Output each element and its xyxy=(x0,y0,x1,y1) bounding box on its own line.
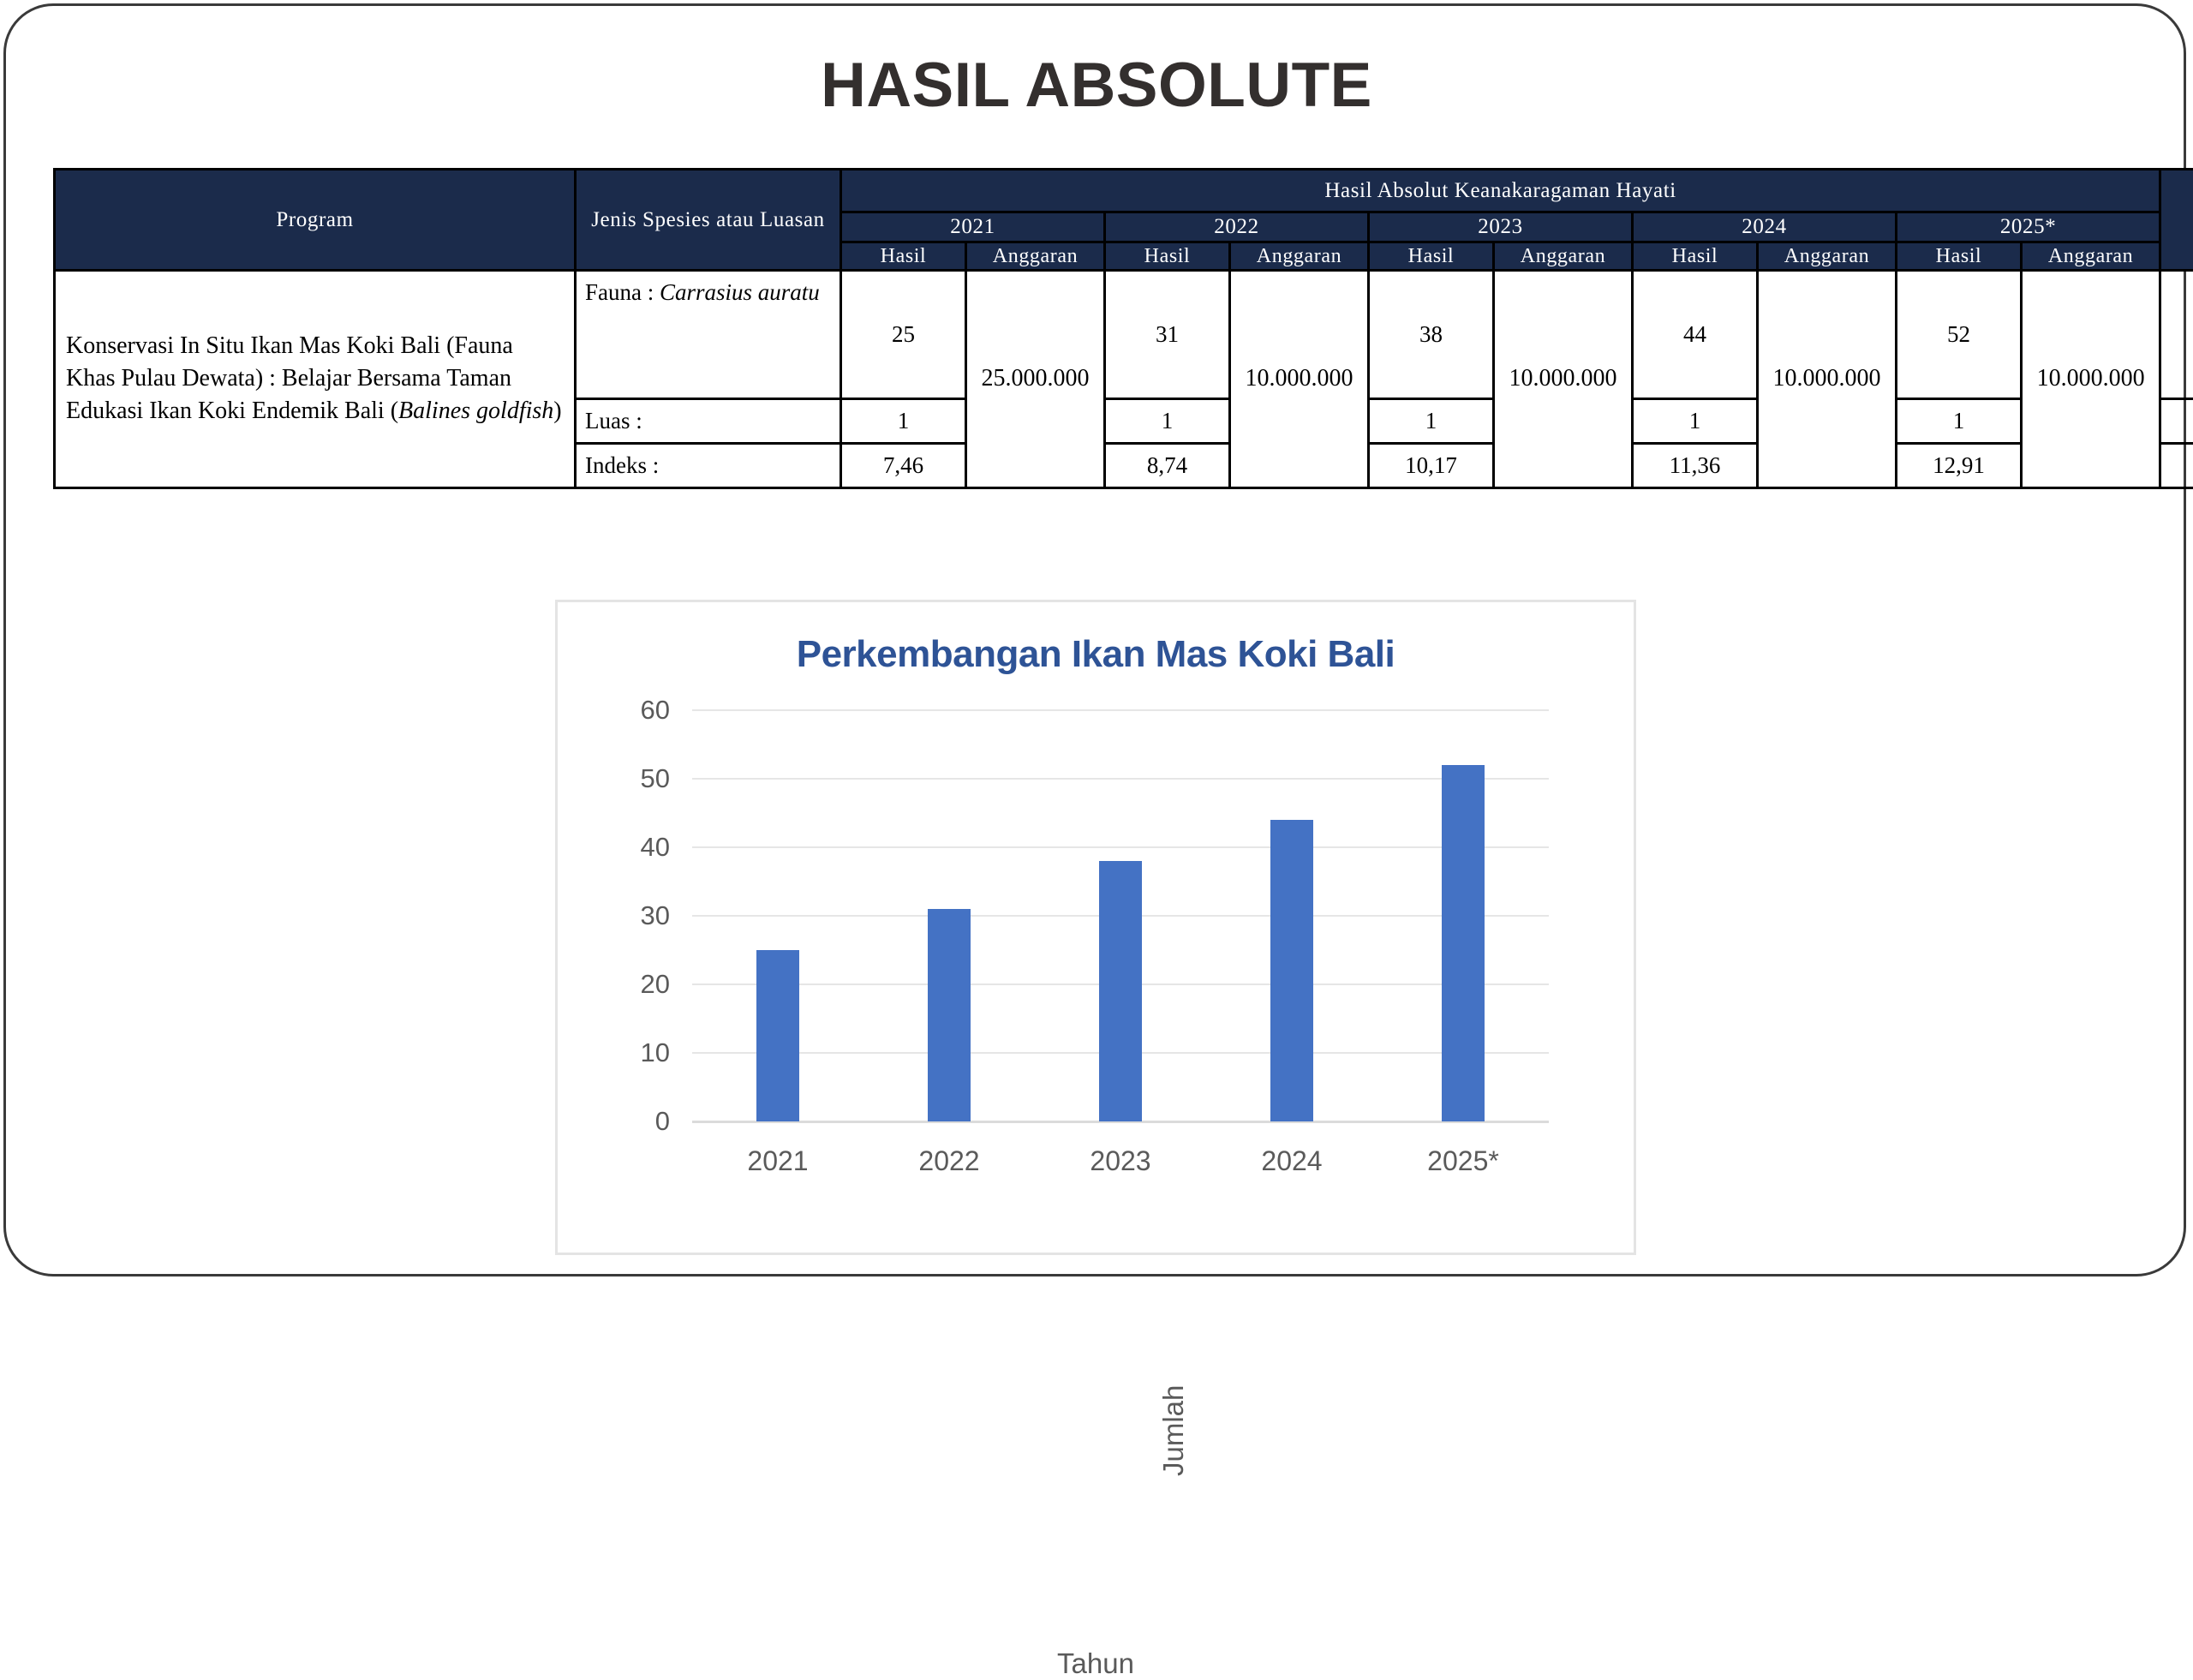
td-fauna-2025: 52 xyxy=(1897,270,2022,398)
x-tick-label-2025*: 2025* xyxy=(1427,1145,1499,1177)
td-anggaran-2024: 10.000.000 xyxy=(1758,270,1897,487)
x-tick-label-2021: 2021 xyxy=(747,1145,808,1177)
y-tick-label-10: 10 xyxy=(641,1037,670,1068)
biodiversity-results-table: Program Jenis Spesies atau Luasan Hasil … xyxy=(53,168,2136,489)
fauna-species-name: Carrasius auratu xyxy=(660,279,820,305)
gridline-50 xyxy=(692,778,1549,780)
bar-2021 xyxy=(756,950,799,1121)
td-indeks-2025: 12,91 xyxy=(1897,443,2022,487)
gridline-60 xyxy=(692,709,1549,711)
td-fauna-2023: 38 xyxy=(1369,270,1494,398)
th-hasil-2025: Hasil xyxy=(1897,242,2022,270)
th-grand-title: Hasil Absolut Keanakaragaman Hayati xyxy=(841,170,2160,212)
th-year-2022: 2022 xyxy=(1105,212,1369,242)
program-text-part2: ) xyxy=(553,398,561,424)
x-tick-label-2022: 2022 xyxy=(918,1145,979,1177)
td-fauna-2021: 25 xyxy=(841,270,966,398)
y-tick-label-0: 0 xyxy=(655,1106,670,1137)
bar-2022 xyxy=(928,909,971,1121)
y-tick-label-60: 60 xyxy=(641,695,670,726)
gridline-40 xyxy=(692,846,1549,848)
bar-2023 xyxy=(1099,861,1142,1121)
y-tick-label-30: 30 xyxy=(641,900,670,931)
td-luas-label: Luas : xyxy=(576,398,841,443)
bar-2024 xyxy=(1270,820,1313,1121)
th-anggaran-2022: Anggaran xyxy=(1230,242,1369,270)
fauna-label: Fauna : xyxy=(585,279,660,305)
th-anggaran-2023: Anggaran xyxy=(1494,242,1633,270)
chart-x-axis-title: Tahun xyxy=(558,1647,1634,1680)
td-indeks-label: Indeks : xyxy=(576,443,841,487)
chart-y-axis-title: Jumlah xyxy=(1157,1385,1190,1476)
td-luas-2022: 1 xyxy=(1105,398,1230,443)
td-satuan-fauna: Ekor xyxy=(2160,270,2193,398)
page-title: HASIL ABSOLUTE xyxy=(0,50,2193,121)
chart-panel: Perkembangan Ikan Mas Koki Bali 01020304… xyxy=(555,600,1636,1255)
th-anggaran-2025: Anggaran xyxy=(2022,242,2160,270)
td-program-description: Konservasi In Situ Ikan Mas Koki Bali (F… xyxy=(55,270,576,487)
x-tick-label-2024: 2024 xyxy=(1261,1145,1322,1177)
td-fauna-2022: 31 xyxy=(1105,270,1230,398)
th-anggaran-2021: Anggaran xyxy=(966,242,1105,270)
td-indeks-2022: 8,74 xyxy=(1105,443,1230,487)
chart-plot-area: 010203040506020212022202320242025* xyxy=(692,710,1549,1121)
td-indeks-2023: 10,17 xyxy=(1369,443,1494,487)
td-anggaran-2022: 10.000.000 xyxy=(1230,270,1369,487)
bar-2025* xyxy=(1442,765,1485,1121)
td-fauna-2024: 44 xyxy=(1633,270,1758,398)
y-tick-label-40: 40 xyxy=(641,832,670,863)
program-text-italic: Balines goldfish xyxy=(398,398,553,424)
td-luas-2024: 1 xyxy=(1633,398,1758,443)
table-row-fauna: Konservasi In Situ Ikan Mas Koki Bali (F… xyxy=(55,270,2193,398)
th-program: Program xyxy=(55,170,576,271)
table-header-row-1: Program Jenis Spesies atau Luasan Hasil … xyxy=(55,170,2193,212)
y-tick-label-20: 20 xyxy=(641,969,670,1000)
td-satuan-indeks: H' xyxy=(2160,443,2193,487)
th-satuan: Satuan xyxy=(2160,170,2193,271)
th-hasil-2023: Hasil xyxy=(1369,242,1494,270)
td-anggaran-2021: 25.000.000 xyxy=(966,270,1105,487)
x-tick-label-2023: 2023 xyxy=(1090,1145,1150,1177)
td-satuan-luas: Ha xyxy=(2160,398,2193,443)
td-luas-2021: 1 xyxy=(841,398,966,443)
th-hasil-2021: Hasil xyxy=(841,242,966,270)
table: Program Jenis Spesies atau Luasan Hasil … xyxy=(53,168,2193,489)
td-fauna-label: Fauna : Carrasius auratu xyxy=(576,270,841,398)
td-indeks-2024: 11,36 xyxy=(1633,443,1758,487)
th-year-2024: 2024 xyxy=(1633,212,1897,242)
td-indeks-2021: 7,46 xyxy=(841,443,966,487)
th-hasil-2022: Hasil xyxy=(1105,242,1230,270)
th-year-2021: 2021 xyxy=(841,212,1105,242)
th-year-2025: 2025* xyxy=(1897,212,2160,242)
td-luas-2025: 1 xyxy=(1897,398,2022,443)
td-luas-2023: 1 xyxy=(1369,398,1494,443)
th-species: Jenis Spesies atau Luasan xyxy=(576,170,841,271)
y-tick-label-50: 50 xyxy=(641,763,670,794)
th-anggaran-2024: Anggaran xyxy=(1758,242,1897,270)
chart-title: Perkembangan Ikan Mas Koki Bali xyxy=(558,633,1634,676)
td-anggaran-2023: 10.000.000 xyxy=(1494,270,1633,487)
th-year-2023: 2023 xyxy=(1369,212,1633,242)
th-hasil-2024: Hasil xyxy=(1633,242,1758,270)
td-anggaran-2025: 10.000.000 xyxy=(2022,270,2160,487)
